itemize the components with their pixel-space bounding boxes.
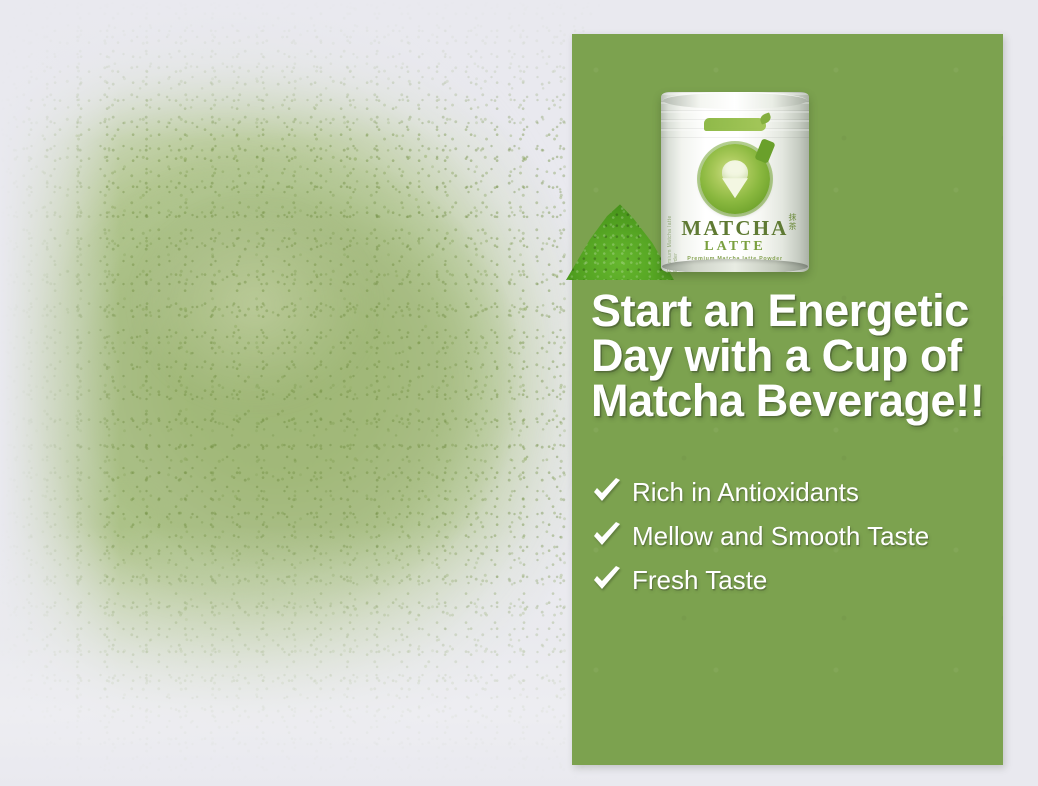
headline-line-1: Start an Energetic bbox=[591, 288, 1001, 333]
product-can[interactable]: MATCHA 抹茶 LATTE Premium Matcha latte Pow… bbox=[661, 84, 809, 280]
check-icon bbox=[590, 475, 624, 509]
can-body: MATCHA 抹茶 LATTE Premium Matcha latte Pow… bbox=[661, 92, 809, 272]
benefits-list: Rich in Antioxidants Mellow and Smooth T… bbox=[590, 470, 990, 602]
promo-banner: MATCHA 抹茶 LATTE Premium Matcha latte Pow… bbox=[0, 0, 1038, 786]
can-label-variant: LATTE bbox=[661, 239, 809, 255]
check-icon bbox=[590, 519, 624, 553]
can-base-rim bbox=[662, 259, 808, 272]
cup-handle-icon bbox=[754, 138, 775, 164]
can-lid bbox=[663, 92, 807, 109]
matcha-latte-cup-icon bbox=[700, 144, 770, 214]
benefit-label: Rich in Antioxidants bbox=[632, 478, 859, 506]
photo-bottom-fade bbox=[0, 526, 600, 786]
list-item: Fresh Taste bbox=[590, 558, 990, 602]
brand-leaf-icon bbox=[704, 118, 766, 131]
latte-art-heart-icon bbox=[718, 158, 752, 198]
headline-line-3: Matcha Beverage!! bbox=[591, 378, 1001, 423]
list-item: Mellow and Smooth Taste bbox=[590, 514, 990, 558]
benefit-label: Fresh Taste bbox=[632, 566, 767, 594]
latte-art-heart-shape bbox=[722, 160, 748, 184]
check-icon bbox=[590, 563, 624, 597]
can-label-kanji: 抹茶 bbox=[785, 214, 800, 231]
list-item: Rich in Antioxidants bbox=[590, 470, 990, 514]
benefit-label: Mellow and Smooth Taste bbox=[632, 522, 929, 550]
page-title: Start an Energetic Day with a Cup of Mat… bbox=[591, 288, 1001, 423]
matcha-powder-photo bbox=[0, 0, 600, 786]
headline-line-2: Day with a Cup of bbox=[591, 333, 1001, 378]
